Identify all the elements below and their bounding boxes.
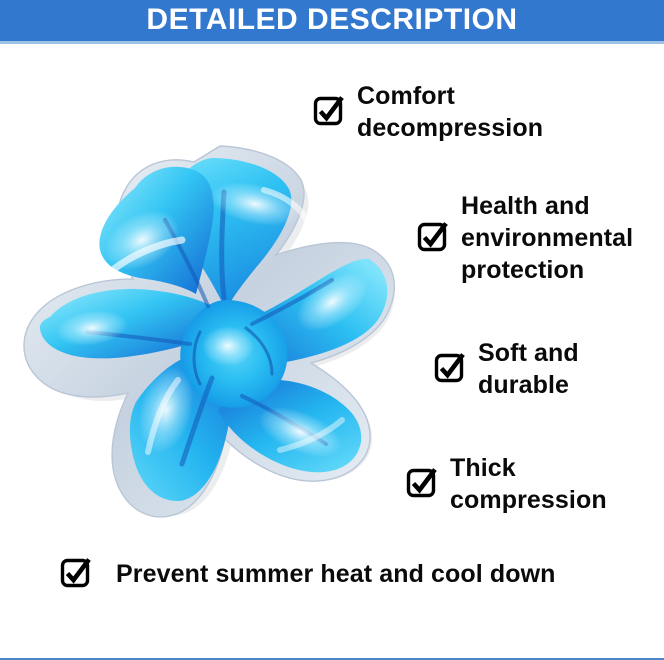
feature-label: Soft and durable — [478, 337, 579, 401]
checkbox-checked-icon — [58, 557, 92, 591]
checkbox-checked-icon — [432, 352, 466, 386]
feature-label: Health and environmental protection — [461, 190, 633, 286]
header-underline — [0, 41, 664, 44]
feature-item-soft-durable: Soft and durable — [432, 337, 660, 401]
detailed-description-panel: DETAILED DESCRIPTION — [0, 0, 664, 660]
feature-item-health-environmental-protection: Health and environmental protection — [415, 190, 660, 286]
product-image-gel-pack — [14, 132, 434, 522]
feature-item-comfort-decompression: Comfort decompression — [311, 80, 656, 144]
feature-item-thick-compression: Thick compression — [404, 452, 659, 516]
page-title: DETAILED DESCRIPTION — [146, 5, 517, 36]
feature-label: Thick compression — [450, 452, 607, 516]
gel-pack-illustration — [14, 132, 434, 522]
checkbox-checked-icon — [415, 221, 449, 255]
feature-item-prevent-summer-heat: Prevent summer heat and cool down — [58, 557, 658, 591]
feature-label: Prevent summer heat and cool down — [116, 558, 556, 590]
checkbox-checked-icon — [404, 467, 438, 501]
checkbox-checked-icon — [311, 95, 345, 129]
header-banner: DETAILED DESCRIPTION — [0, 0, 664, 41]
feature-label: Comfort decompression — [357, 80, 543, 144]
